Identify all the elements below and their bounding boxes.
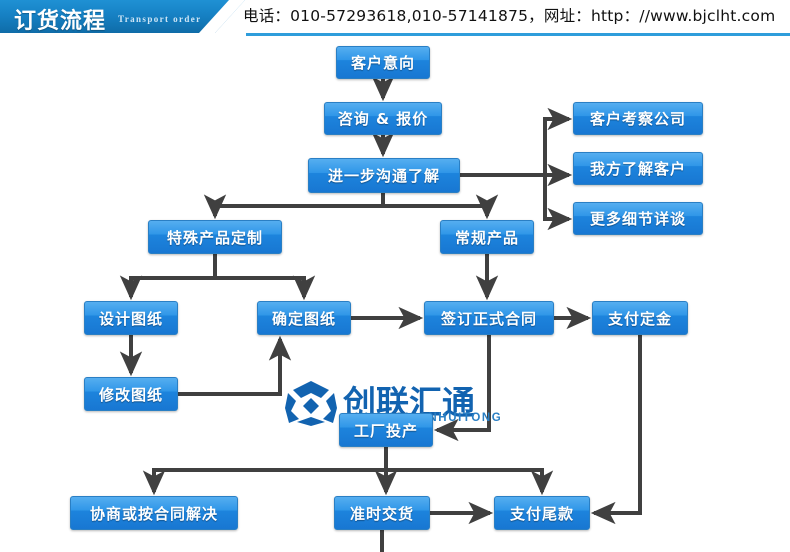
page-subtitle: Transport order <box>118 14 202 24</box>
node-confirm-drawing[interactable]: 确定图纸 <box>257 301 351 335</box>
contact-info: 电话：010-57293618,010-57141875，网址：http：//w… <box>243 4 775 26</box>
node-design-drawing[interactable]: 设计图纸 <box>84 301 178 335</box>
node-further-comm[interactable]: 进一步沟通了解 <box>308 158 460 193</box>
edge-comm-to-visit <box>460 119 569 175</box>
edge-factory-to-balance <box>386 470 542 492</box>
node-customer-visit[interactable]: 客户考察公司 <box>573 102 703 135</box>
edge-factory-to-negotiate <box>154 447 386 492</box>
edge-custom-to-confirm <box>215 278 304 297</box>
node-we-know-customer[interactable]: 我方了解客户 <box>573 152 703 185</box>
node-customer-intent[interactable]: 客户意向 <box>336 46 430 79</box>
node-pay-balance[interactable]: 支付尾款 <box>494 496 590 530</box>
node-factory-production[interactable]: 工厂投产 <box>339 413 433 447</box>
edge-sign-to-factory <box>437 335 489 430</box>
edge-comm-to-standard <box>383 206 487 216</box>
edge-custom-to-design <box>131 254 215 297</box>
page-header: 订货流程 Transport order 电话：010-57293618,010… <box>0 0 790 40</box>
page-title: 订货流程 <box>14 3 106 35</box>
node-standard-product[interactable]: 常规产品 <box>440 220 534 254</box>
edge-comm-to-details <box>545 175 569 219</box>
edge-modify-to-confirm <box>178 339 280 394</box>
flowchart: 客户意向 咨询 & 报价 进一步沟通了解 客户考察公司 我方了解客户 更多细节详… <box>0 40 790 552</box>
node-pay-deposit[interactable]: 支付定金 <box>592 301 688 335</box>
node-sign-contract[interactable]: 签订正式合同 <box>424 301 554 335</box>
node-custom-product[interactable]: 特殊产品定制 <box>148 220 282 254</box>
node-negotiate-contract[interactable]: 协商或按合同解决 <box>70 496 238 530</box>
node-modify-drawing[interactable]: 修改图纸 <box>84 377 178 411</box>
edge-deposit-to-balance <box>594 335 640 513</box>
node-on-time-delivery[interactable]: 准时交货 <box>334 496 430 530</box>
header-divider-mask <box>0 33 246 36</box>
node-more-details[interactable]: 更多细节详谈 <box>573 202 703 235</box>
edge-comm-to-custom <box>215 193 383 216</box>
node-consult-quote[interactable]: 咨询 & 报价 <box>324 102 442 135</box>
